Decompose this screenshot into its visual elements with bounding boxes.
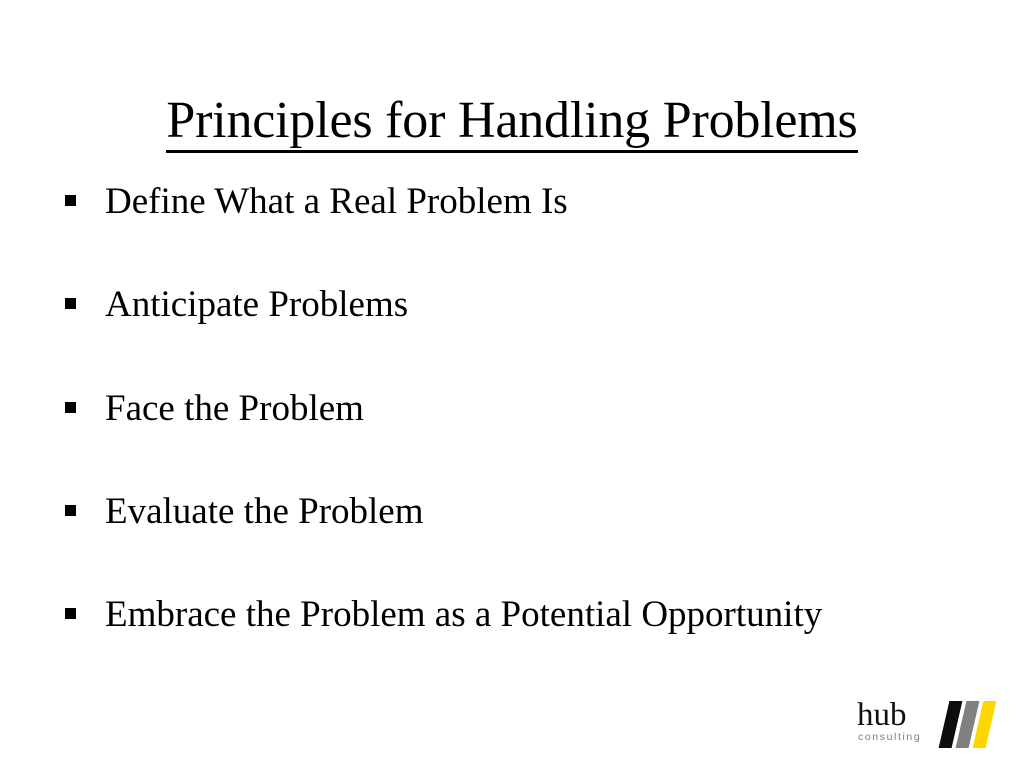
bullet-text: Embrace the Problem as a Potential Oppor… <box>105 591 865 638</box>
bullet-list: Define What a Real Problem Is Anticipate… <box>62 178 942 639</box>
list-item: Anticipate Problems <box>62 281 942 328</box>
square-bullet-icon <box>65 402 76 413</box>
bullet-text: Face the Problem <box>105 385 865 432</box>
logo-wordmark: hub consulting <box>857 700 943 744</box>
list-item: Evaluate the Problem <box>62 488 942 535</box>
hub-consulting-logo: hub consulting <box>857 700 1007 758</box>
list-item: Face the Problem <box>62 385 942 432</box>
logo-bars <box>942 701 1004 749</box>
bullet-text: Define What a Real Problem Is <box>105 178 865 225</box>
slide-title-container: Principles for Handling Problems <box>0 58 1024 188</box>
list-item: Define What a Real Problem Is <box>62 178 942 225</box>
square-bullet-icon <box>65 608 76 619</box>
logo-word-consulting: consulting <box>858 731 943 744</box>
square-bullet-icon <box>65 298 76 309</box>
list-item: Embrace the Problem as a Potential Oppor… <box>62 591 942 638</box>
logo-word-hub: hub <box>857 700 943 730</box>
square-bullet-icon <box>65 505 76 516</box>
bullet-text: Evaluate the Problem <box>105 488 865 535</box>
page-title: Principles for Handling Problems <box>166 93 857 153</box>
square-bullet-icon <box>65 195 76 206</box>
presentation-slide: Principles for Handling Problems Define … <box>0 0 1024 768</box>
bullet-text: Anticipate Problems <box>105 281 865 328</box>
